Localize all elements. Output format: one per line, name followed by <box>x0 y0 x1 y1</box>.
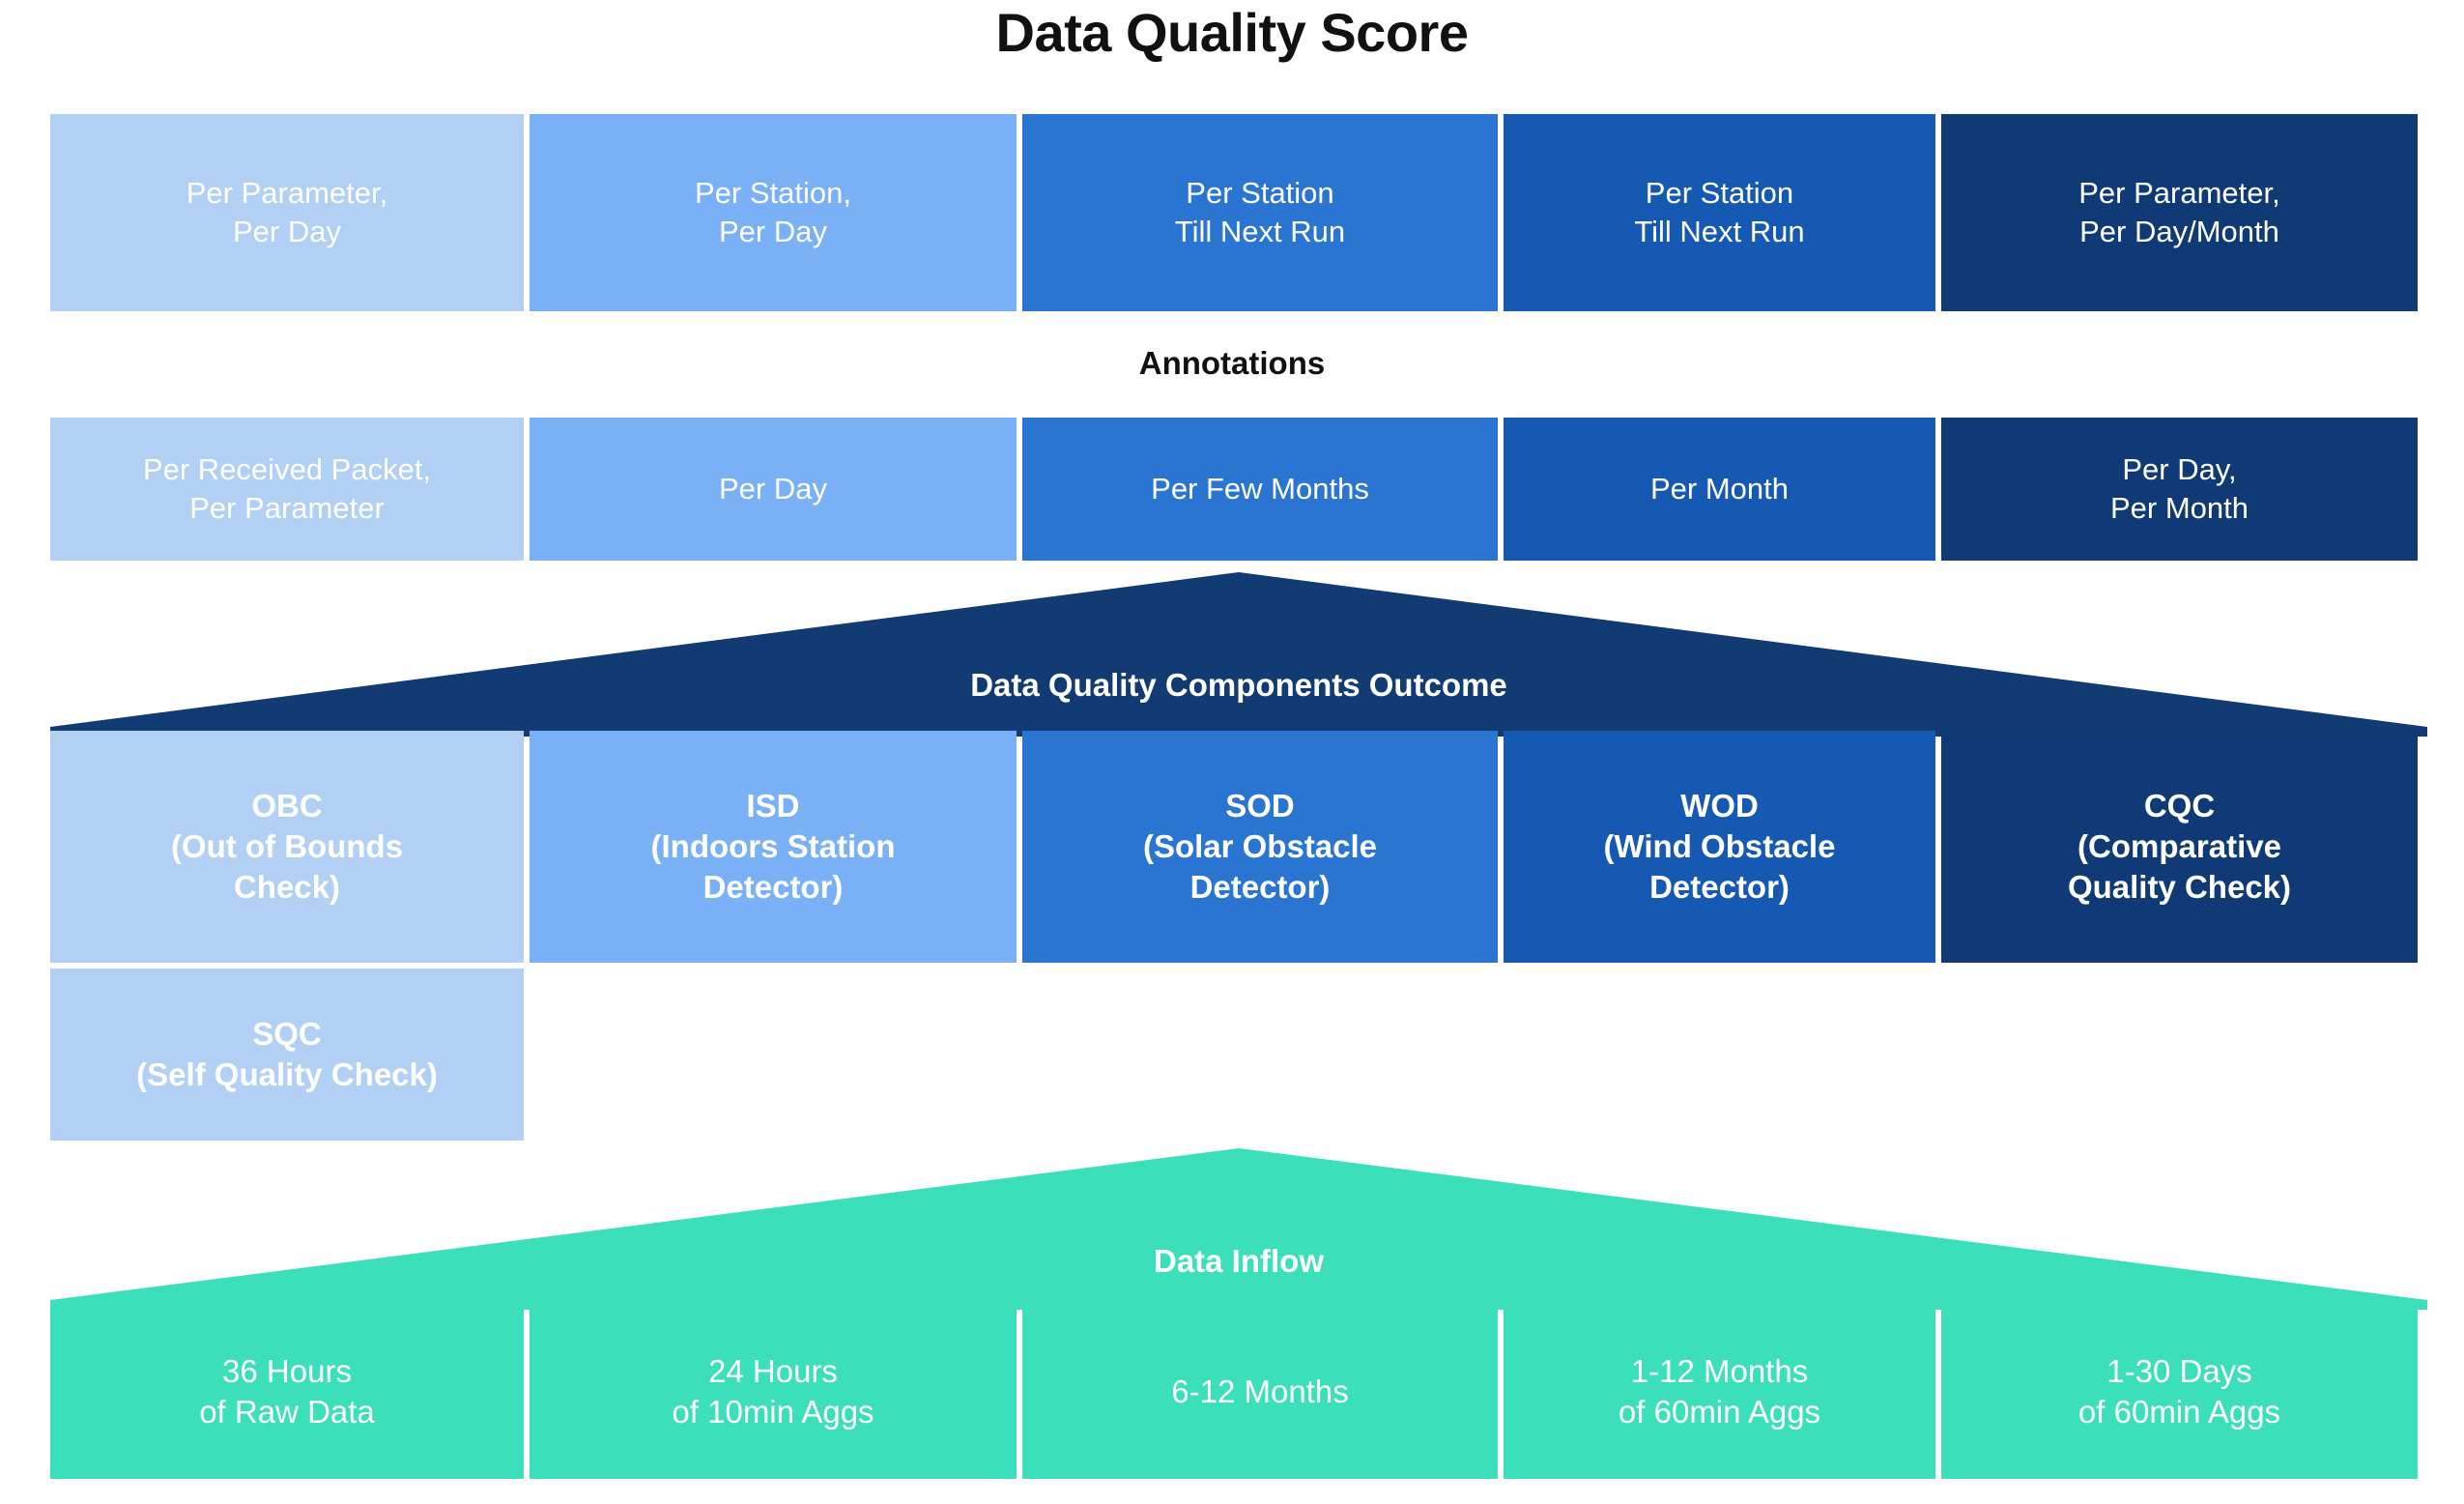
score-scope-row: Per Parameter, Per Day Per Station, Per … <box>50 114 2427 311</box>
page-title: Data Quality Score <box>0 2 2464 64</box>
data-inflow-triangle <box>50 1148 2427 1310</box>
component-box-sod-code: SOD <box>1225 788 1295 824</box>
component-box-sqc-line2: (Self Quality Check) <box>136 1056 438 1092</box>
component-box-cqc: CQC (Comparative Quality Check) <box>1941 731 2418 963</box>
component-box-obc-code: OBC <box>251 788 322 824</box>
data-inflow-row: 36 Hours of Raw Data 24 Hours of 10min A… <box>50 1305 2427 1479</box>
score-scope-cell-5: Per Parameter, Per Day/Month <box>1941 114 2418 311</box>
component-box-wod-code: WOD <box>1680 788 1759 824</box>
score-scope-cell-5-line1: Per Parameter, <box>2078 176 2279 210</box>
data-inflow-cell-4-line1: 1-12 Months <box>1631 1353 1808 1389</box>
data-inflow-cell-4: 1-12 Months of 60min Aggs <box>1504 1305 1935 1479</box>
score-scope-cell-3: Per Station Till Next Run <box>1022 114 1498 311</box>
annotation-frequency-cell-4-line1: Per Month <box>1650 472 1789 506</box>
component-box-wod: WOD (Wind Obstacle Detector) <box>1504 731 1935 963</box>
components-outcome-triangle <box>50 572 2427 737</box>
component-box-wod-line3: Detector) <box>1649 869 1790 905</box>
data-inflow-cell-1: 36 Hours of Raw Data <box>50 1305 524 1479</box>
data-inflow-cell-3: 6-12 Months <box>1022 1305 1498 1479</box>
component-box-isd-line3: Detector) <box>703 869 844 905</box>
components-row: OBC (Out of Bounds Check) ISD (Indoors S… <box>50 731 2427 963</box>
diagram-canvas: Data Quality Score Per Parameter, Per Da… <box>0 0 2464 1504</box>
annotations-section-label: Annotations <box>0 345 2464 382</box>
data-inflow-cell-5-line2: of 60min Aggs <box>2078 1394 2280 1430</box>
score-scope-cell-4-line1: Per Station <box>1646 176 1793 210</box>
component-box-isd: ISD (Indoors Station Detector) <box>530 731 1017 963</box>
component-box-sqc: SQC (Self Quality Check) <box>50 969 524 1141</box>
annotation-frequency-cell-3: Per Few Months <box>1022 418 1498 561</box>
data-inflow-cell-1-line1: 36 Hours <box>222 1353 352 1389</box>
annotation-frequency-cell-5: Per Day, Per Month <box>1941 418 2418 561</box>
score-scope-cell-1-line2: Per Day <box>233 215 341 248</box>
score-scope-cell-2-line1: Per Station, <box>695 176 851 210</box>
data-inflow-cell-2-line2: of 10min Aggs <box>672 1394 874 1430</box>
data-inflow-banner: Data Inflow <box>50 1148 2427 1310</box>
score-scope-cell-3-line1: Per Station <box>1186 176 1333 210</box>
annotation-frequency-cell-4: Per Month <box>1504 418 1935 561</box>
score-scope-cell-3-line2: Till Next Run <box>1175 215 1345 248</box>
score-scope-cell-5-line2: Per Day/Month <box>2079 215 2279 248</box>
component-box-isd-line2: (Indoors Station <box>651 828 896 864</box>
annotation-frequency-cell-2-line1: Per Day <box>719 472 827 506</box>
component-box-obc: OBC (Out of Bounds Check) <box>50 731 524 963</box>
data-inflow-cell-2-line1: 24 Hours <box>708 1353 838 1389</box>
component-box-cqc-line3: Quality Check) <box>2068 869 2291 905</box>
score-scope-cell-4-line2: Till Next Run <box>1634 215 1804 248</box>
annotation-frequency-cell-3-line1: Per Few Months <box>1151 472 1369 506</box>
data-inflow-cell-4-line2: of 60min Aggs <box>1619 1394 1820 1430</box>
annotation-frequency-cell-5-line2: Per Month <box>2110 491 2249 525</box>
component-box-isd-code: ISD <box>746 788 799 824</box>
component-box-sod: SOD (Solar Obstacle Detector) <box>1022 731 1498 963</box>
score-scope-cell-2-line2: Per Day <box>719 215 827 248</box>
score-scope-cell-1-line1: Per Parameter, <box>186 176 387 210</box>
data-inflow-cell-5: 1-30 Days of 60min Aggs <box>1941 1305 2418 1479</box>
component-box-cqc-code: CQC <box>2144 788 2215 824</box>
component-box-obc-line2: (Out of Bounds <box>171 828 403 864</box>
component-box-cqc-line2: (Comparative <box>2077 828 2281 864</box>
annotation-frequency-cell-1-line1: Per Received Packet, <box>143 452 431 486</box>
data-inflow-cell-5-line1: 1-30 Days <box>2106 1353 2251 1389</box>
annotation-frequency-cell-1: Per Received Packet, Per Parameter <box>50 418 524 561</box>
component-box-sod-line3: Detector) <box>1190 869 1331 905</box>
score-scope-cell-2: Per Station, Per Day <box>530 114 1017 311</box>
data-inflow-cell-1-line2: of Raw Data <box>199 1394 375 1430</box>
annotation-frequency-cell-1-line2: Per Parameter <box>189 491 385 525</box>
annotation-frequency-row: Per Received Packet, Per Parameter Per D… <box>50 418 2427 561</box>
data-inflow-cell-3-line1: 6-12 Months <box>1171 1374 1348 1409</box>
score-scope-cell-1: Per Parameter, Per Day <box>50 114 524 311</box>
score-scope-cell-4: Per Station Till Next Run <box>1504 114 1935 311</box>
component-box-wod-line2: (Wind Obstacle <box>1604 828 1836 864</box>
components-outcome-banner: Data Quality Components Outcome <box>50 572 2427 737</box>
component-box-obc-line3: Check) <box>234 869 340 905</box>
annotation-frequency-cell-5-line1: Per Day, <box>2122 452 2236 486</box>
component-box-sod-line2: (Solar Obstacle <box>1143 828 1377 864</box>
data-inflow-cell-2: 24 Hours of 10min Aggs <box>530 1305 1017 1479</box>
annotation-frequency-cell-2: Per Day <box>530 418 1017 561</box>
component-box-sqc-code: SQC <box>252 1016 322 1052</box>
